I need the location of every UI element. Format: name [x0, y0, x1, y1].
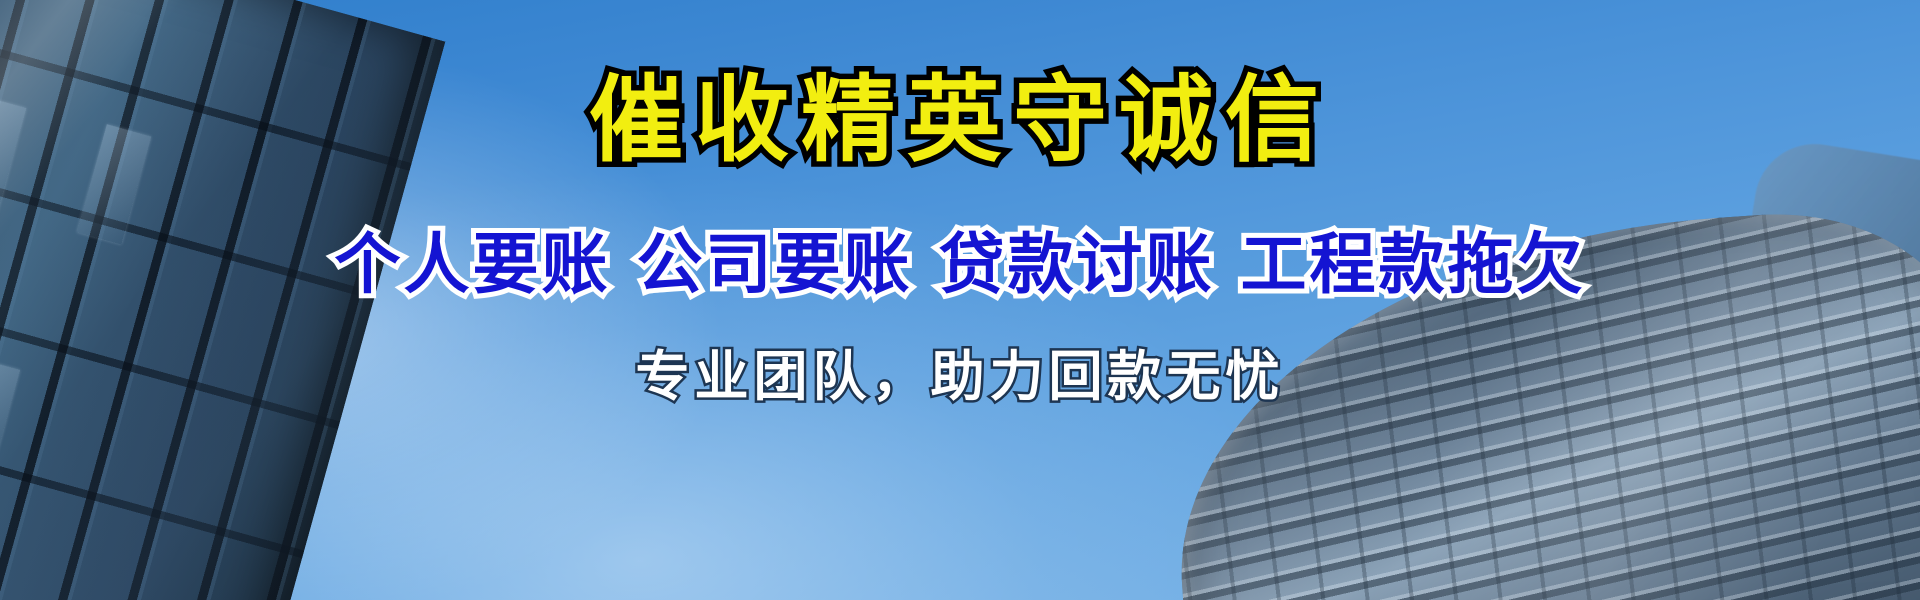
promo-banner: 催收精英守诚信 个人要账 公司要账 贷款讨账 工程款拖欠 专业团队，助力回款无忧: [0, 0, 1920, 600]
right-building-tower: [1159, 201, 1920, 600]
left-building-photo: [0, 0, 470, 600]
left-building-facade: [0, 0, 445, 600]
left-building-reflection-sheen: [0, 0, 445, 600]
